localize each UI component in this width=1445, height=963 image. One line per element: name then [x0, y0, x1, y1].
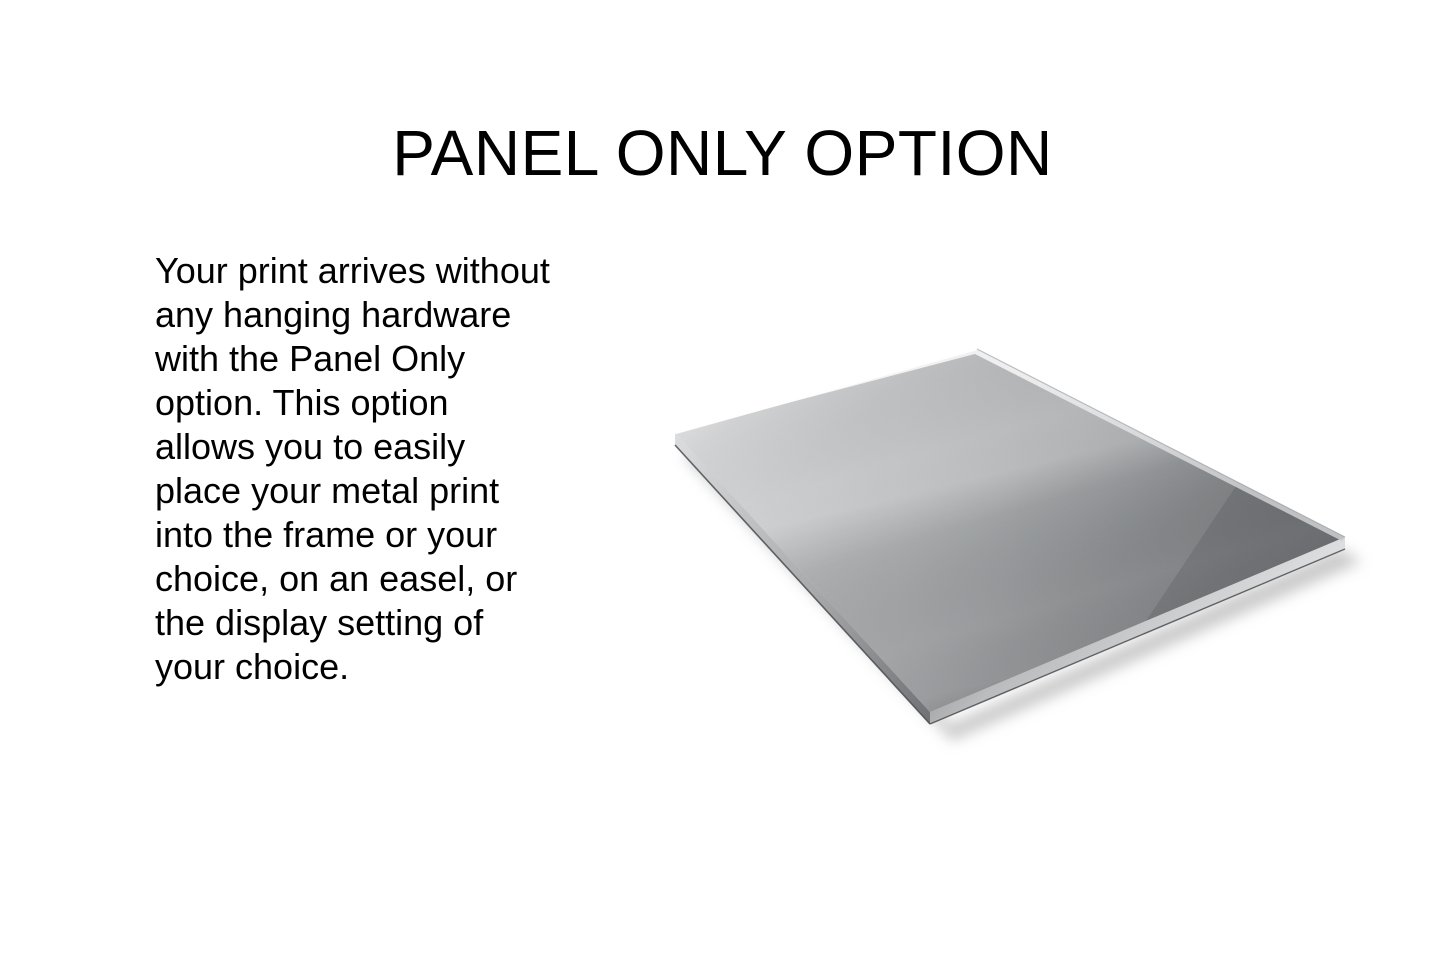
slide-canvas: PANEL ONLY OPTION Your print arrives wit…: [0, 0, 1445, 963]
body-line: allows you to easily: [155, 425, 585, 469]
metal-panel-image: [620, 300, 1400, 770]
body-line: Your print arrives without: [155, 249, 585, 293]
body-line: choice, on an easel, or: [155, 557, 585, 601]
body-line: the display setting of: [155, 601, 585, 645]
body-line: place your metal print: [155, 469, 585, 513]
body-line: your choice.: [155, 645, 585, 689]
page-title: PANEL ONLY OPTION: [0, 121, 1445, 185]
body-line: into the frame or your: [155, 513, 585, 557]
body-line: option. This option: [155, 381, 585, 425]
body-paragraph: Your print arrives without any hanging h…: [155, 249, 585, 689]
body-line: with the Panel Only: [155, 337, 585, 381]
body-line: any hanging hardware: [155, 293, 585, 337]
